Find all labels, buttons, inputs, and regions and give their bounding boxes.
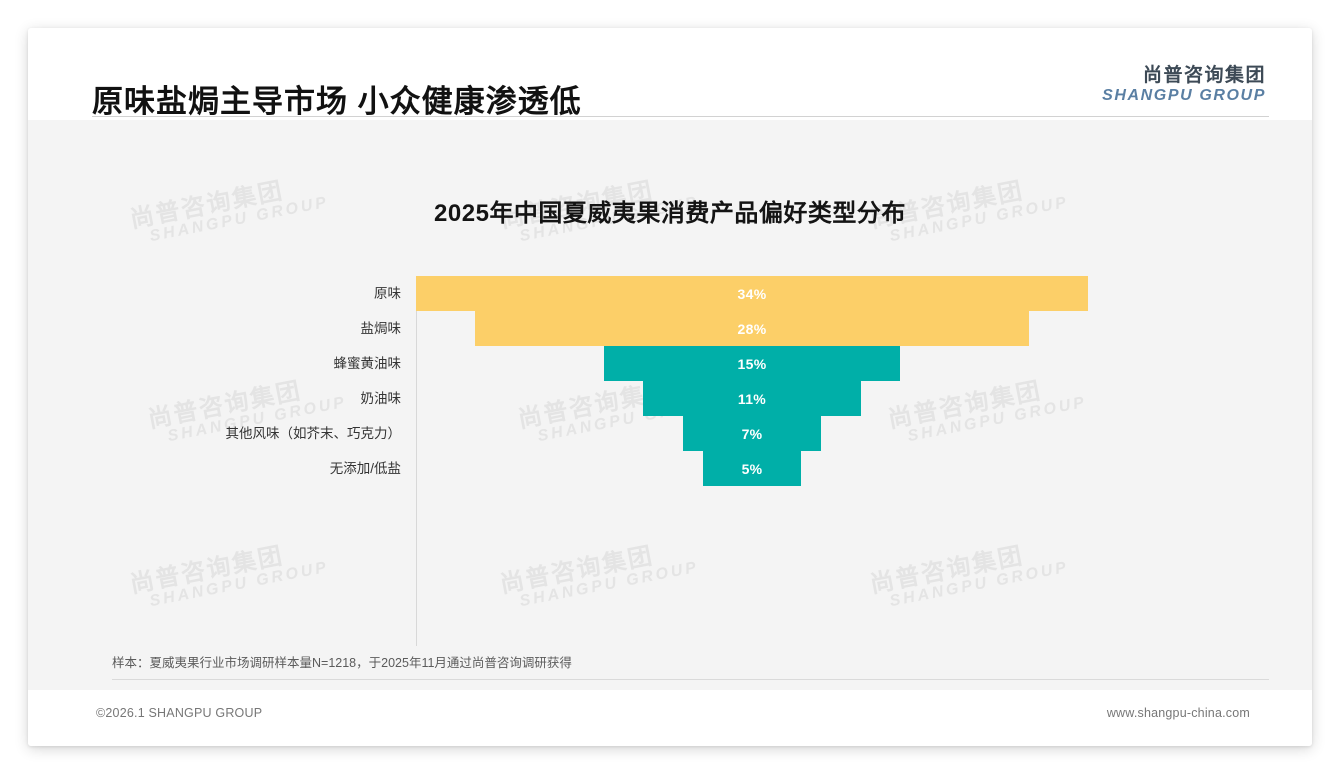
- chart-bar[interactable]: 11%: [643, 381, 860, 416]
- bar-category-label: 无添加/低盐: [330, 451, 401, 486]
- chart-bar[interactable]: 7%: [683, 416, 821, 451]
- bar-value-label: 15%: [738, 356, 767, 372]
- slide-footer: ©2026.1 SHANGPU GROUP www.shangpu-china.…: [28, 690, 1312, 746]
- bar-category-label: 蜂蜜黄油味: [334, 346, 402, 381]
- bar-value-label: 28%: [738, 321, 767, 337]
- chart-container: 2025年中国夏威夷果消费产品偏好类型分布 原味34%盐焗味28%蜂蜜黄油味15…: [28, 120, 1312, 680]
- bar-category-label: 原味: [374, 276, 401, 311]
- bar-category-label: 盐焗味: [361, 311, 402, 346]
- chart-bar[interactable]: 34%: [416, 276, 1088, 311]
- chart-bar-row: 原味34%: [28, 276, 1312, 311]
- bar-value-label: 11%: [738, 391, 766, 407]
- chart-title: 2025年中国夏威夷果消费产品偏好类型分布: [28, 193, 1312, 228]
- bar-category-label: 其他风味（如芥末、巧克力）: [226, 416, 402, 451]
- brand-logo: 尚普咨询集团 SHANGPU GROUP: [1102, 66, 1266, 104]
- slide-canvas: 尚普咨询集团SHANGPU GROUP尚普咨询集团SHANGPU GROUP尚普…: [28, 28, 1312, 746]
- chart-bar[interactable]: 15%: [604, 346, 900, 381]
- header-divider: [92, 116, 1269, 117]
- bar-value-label: 7%: [742, 426, 763, 442]
- chart-bar-row: 其他风味（如芥末、巧克力）7%: [28, 416, 1312, 451]
- chart-bar[interactable]: 28%: [475, 311, 1028, 346]
- chart-bar[interactable]: 5%: [703, 451, 802, 486]
- chart-bar-row: 无添加/低盐5%: [28, 451, 1312, 486]
- copyright-text: ©2026.1 SHANGPU GROUP: [96, 706, 262, 720]
- footnote-divider: [112, 679, 1269, 680]
- page-title: 原味盐焗主导市场 小众健康渗透低: [92, 76, 582, 121]
- brand-logo-cn: 尚普咨询集团: [1102, 66, 1266, 87]
- chart-bar-row: 奶油味11%: [28, 381, 1312, 416]
- website-link[interactable]: www.shangpu-china.com: [1107, 706, 1250, 720]
- slide-header: 原味盐焗主导市场 小众健康渗透低 尚普咨询集团 SHANGPU GROUP: [28, 28, 1312, 120]
- chart-plot-area: 原味34%盐焗味28%蜂蜜黄油味15%奶油味11%其他风味（如芥末、巧克力）7%…: [28, 276, 1312, 666]
- bar-category-label: 奶油味: [361, 381, 402, 416]
- brand-logo-en: SHANGPU GROUP: [1102, 87, 1266, 104]
- bar-value-label: 5%: [742, 461, 763, 477]
- sample-note: 样本：夏威夷果行业市场调研样本量N=1218，于2025年11月通过尚普咨询调研…: [112, 652, 572, 671]
- bar-value-label: 34%: [738, 286, 767, 302]
- chart-bar-row: 盐焗味28%: [28, 311, 1312, 346]
- chart-bar-row: 蜂蜜黄油味15%: [28, 346, 1312, 381]
